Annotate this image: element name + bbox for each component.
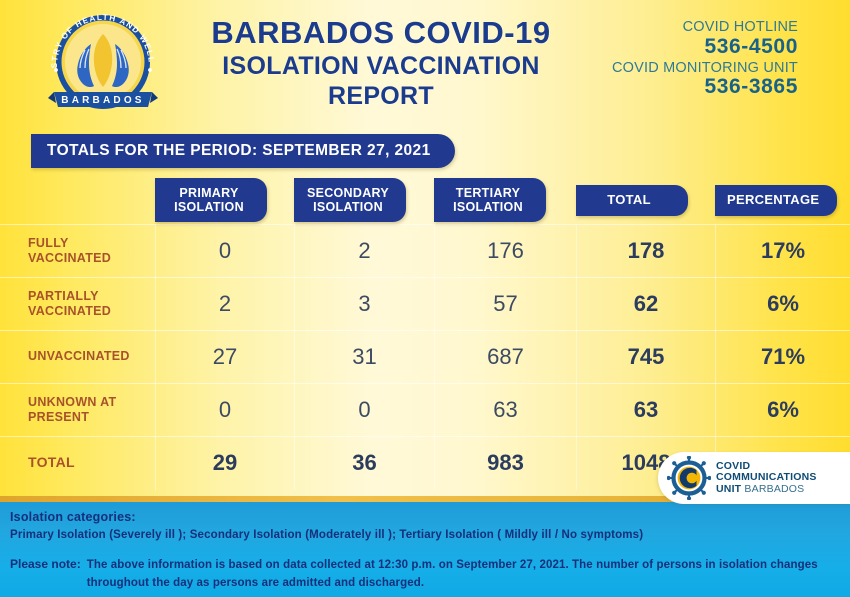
cell-primary: 0 (155, 225, 294, 278)
row-label-unknown-at-present: UNKNOWN AT PRESENT (0, 395, 155, 426)
column-header-line: PRIMARY (179, 186, 238, 201)
table-row: FULLY VACCINATED 0 2 176 178 17% (0, 224, 850, 277)
cell-secondary: 0 (294, 384, 434, 437)
column-header-line: ISOLATION (313, 200, 383, 215)
page-subtitle: ISOLATION VACCINATION REPORT (166, 52, 596, 111)
cell-total: 63 (576, 384, 715, 437)
column-header-line: TOTAL (607, 192, 651, 207)
cell-tertiary: 63 (434, 384, 576, 437)
covid-hotline-label: COVID HOTLINE (612, 20, 798, 35)
cc-line-3-light: BARBADOS (744, 483, 804, 495)
cell-secondary: 31 (294, 331, 434, 384)
column-header-line: TERTIARY (456, 186, 520, 201)
covid-monitoring-unit-number[interactable]: 536-3865 (612, 76, 798, 97)
cell-percentage: 6% (715, 384, 850, 437)
column-header-secondary-isolation: SECONDARY ISOLATION (294, 178, 434, 222)
row-label-total: TOTAL (0, 454, 155, 471)
column-header-line: SECONDARY (307, 186, 389, 201)
cell-total: 62 (576, 278, 715, 331)
column-header-percentage: PERCENTAGE (715, 185, 850, 216)
poster-header: MINISTRY OF HEALTH AND WELLNESS BARBADO (0, 0, 850, 118)
cell-primary: 2 (155, 278, 294, 331)
cc-line-3-bold: UNIT (716, 483, 741, 495)
ministry-of-health-seal-icon: MINISTRY OF HEALTH AND WELLNESS BARBADO (44, 8, 162, 113)
row-label-line: VACCINATED (28, 304, 155, 319)
cell-primary: 27 (155, 331, 294, 384)
isolation-categories-heading: Isolation categories: (10, 510, 836, 524)
cell-tertiary: 983 (434, 437, 576, 490)
row-label-line: PRESENT (28, 410, 155, 425)
row-label-line: VACCINATED (28, 251, 155, 266)
covid-communications-unit-logo: COVID COMMUNICATIONS UNIT BARBADOS (658, 452, 850, 504)
cell-secondary: 36 (294, 437, 434, 490)
row-label-line: UNKNOWN AT (28, 395, 155, 410)
cell-tertiary: 687 (434, 331, 576, 384)
please-note-block: Please note: The above information is ba… (10, 557, 836, 593)
cc-line-3: UNIT BARBADOS (716, 484, 817, 496)
row-label-line: PARTIALLY (28, 289, 155, 304)
column-header-line: ISOLATION (174, 200, 244, 215)
cell-primary: 29 (155, 437, 294, 490)
seal-ribbon-text: BARBADOS (61, 95, 144, 106)
cell-percentage: 71% (715, 331, 850, 384)
table-header-row: PRIMARY ISOLATION SECONDARY ISOLATION TE… (0, 176, 850, 224)
cell-secondary: 2 (294, 225, 434, 278)
covid-hotline-number[interactable]: 536-4500 (612, 36, 798, 57)
column-header-line: ISOLATION (453, 200, 523, 215)
column-header-tertiary-isolation: TERTIARY ISOLATION (434, 178, 576, 222)
row-label-fully-vaccinated: FULLY VACCINATED (0, 236, 155, 267)
row-label-line: TOTAL (28, 454, 155, 471)
please-note-label: Please note: (10, 557, 81, 571)
table-row: UNVACCINATED 27 31 687 745 71% (0, 330, 850, 383)
cell-primary: 0 (155, 384, 294, 437)
cell-total: 745 (576, 331, 715, 384)
isolation-categories-text: Primary Isolation (Severely ill ); Secon… (10, 529, 836, 541)
please-note-text: The above information is based on data c… (87, 557, 836, 593)
covid-communications-unit-text: COVID COMMUNICATIONS UNIT BARBADOS (716, 461, 817, 496)
vaccination-table: PRIMARY ISOLATION SECONDARY ISOLATION TE… (0, 176, 850, 489)
hotline-block: COVID HOTLINE 536-4500 COVID MONITORING … (612, 20, 798, 101)
poster-footer: Isolation categories: Primary Isolation … (0, 502, 850, 597)
totals-period-banner: TOTALS FOR THE PERIOD: SEPTEMBER 27, 202… (31, 134, 455, 168)
cell-percentage: 17% (715, 225, 850, 278)
column-header-line: PERCENTAGE (727, 192, 819, 207)
cell-percentage: 6% (715, 278, 850, 331)
row-label-line: UNVACCINATED (28, 349, 155, 364)
table-row: UNKNOWN AT PRESENT 0 0 63 63 6% (0, 383, 850, 436)
table-row: PARTIALLY VACCINATED 2 3 57 62 6% (0, 277, 850, 330)
totals-period-text: TOTALS FOR THE PERIOD: SEPTEMBER 27, 202… (47, 142, 431, 160)
covid-monitoring-unit-label: COVID MONITORING UNIT (612, 61, 798, 76)
column-header-primary-isolation: PRIMARY ISOLATION (155, 178, 294, 222)
column-header-total: TOTAL (576, 185, 715, 216)
cell-tertiary: 176 (434, 225, 576, 278)
page-title: BARBADOS COVID-19 (166, 16, 596, 49)
cell-total: 178 (576, 225, 715, 278)
cell-tertiary: 57 (434, 278, 576, 331)
row-label-line: FULLY (28, 236, 155, 251)
row-label-partially-vaccinated: PARTIALLY VACCINATED (0, 289, 155, 320)
virus-c-icon (667, 456, 711, 500)
report-poster: MINISTRY OF HEALTH AND WELLNESS BARBADO (0, 0, 850, 597)
title-block: BARBADOS COVID-19 ISOLATION VACCINATION … (166, 16, 596, 111)
cell-secondary: 3 (294, 278, 434, 331)
row-label-unvaccinated: UNVACCINATED (0, 349, 155, 364)
